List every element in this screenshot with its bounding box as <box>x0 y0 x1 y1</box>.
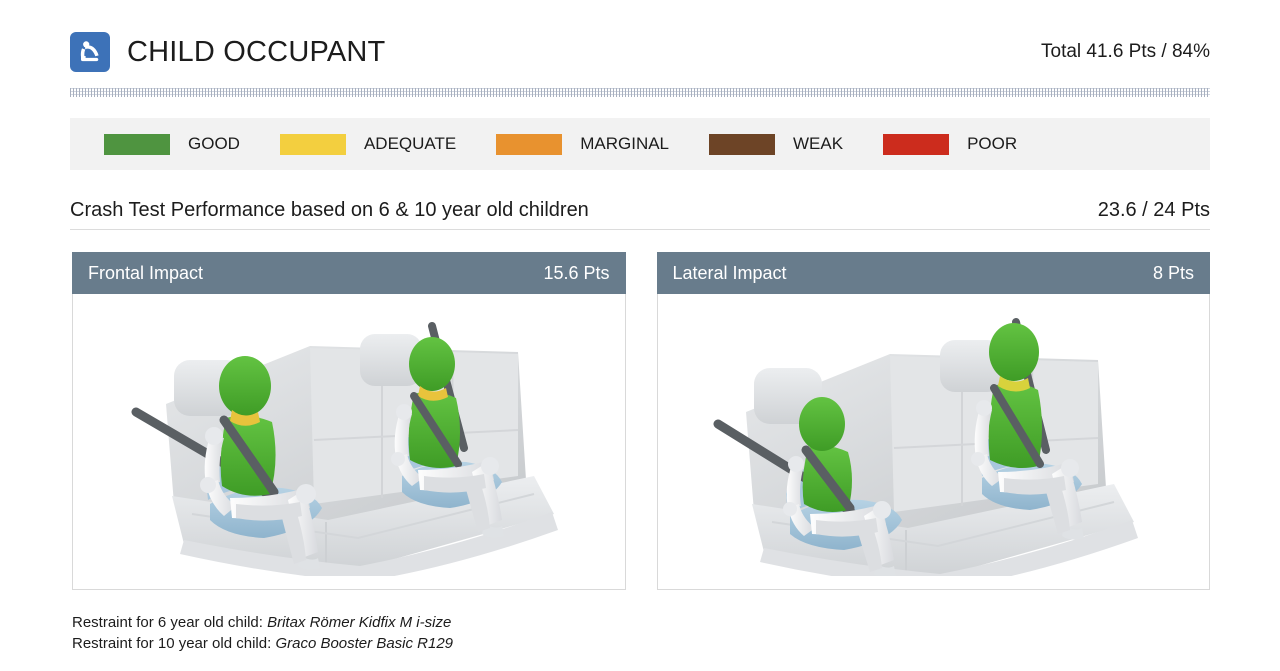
legend-item-good: GOOD <box>104 134 280 155</box>
legend-swatch-adequate <box>280 134 346 155</box>
legend-swatch-marginal <box>496 134 562 155</box>
restraint-note-10yo-prefix: Restraint for 10 year old child: <box>72 635 275 652</box>
dotted-divider <box>70 88 1210 97</box>
legend-item-weak: WEAK <box>709 134 883 155</box>
lateral-impact-card-header: Lateral Impact 8 Pts <box>657 252 1211 294</box>
frontal-impact-title: Frontal Impact <box>88 263 203 284</box>
impact-cards: Frontal Impact 15.6 Pts <box>72 252 1210 590</box>
frontal-impact-crash-figure <box>73 294 625 589</box>
legend-swatch-weak <box>709 134 775 155</box>
page-title: CHILD OCCUPANT <box>127 38 385 67</box>
lateral-impact-score: 8 Pts <box>1153 263 1194 284</box>
restraint-note-10yo-value: Graco Booster Basic R129 <box>275 635 453 652</box>
frontal-impact-score: 15.6 Pts <box>543 263 609 284</box>
legend-item-poor: POOR <box>883 134 1057 155</box>
restraint-note-10yo: Restraint for 10 year old child: Graco B… <box>72 633 972 654</box>
crash-test-section-header: Crash Test Performance based on 6 & 10 y… <box>70 192 1210 230</box>
restraint-note-6yo: Restraint for 6 year old child: Britax R… <box>72 612 972 633</box>
panel-header-left: CHILD OCCUPANT <box>70 32 385 72</box>
total-score: Total 41.6 Pts / 84% <box>1041 41 1210 63</box>
legend-swatch-good <box>104 134 170 155</box>
legend-label-good: GOOD <box>188 134 240 154</box>
legend-label-marginal: MARGINAL <box>580 134 669 154</box>
panel-header: CHILD OCCUPANT Total 41.6 Pts / 84% <box>70 26 1210 78</box>
legend-label-adequate: ADEQUATE <box>364 134 456 154</box>
lateral-impact-crash-figure <box>658 294 1210 589</box>
legend-item-marginal: MARGINAL <box>496 134 709 155</box>
lateral-impact-card-body <box>657 294 1211 590</box>
child-occupant-panel: CHILD OCCUPANT Total 41.6 Pts / 84% GOOD… <box>0 0 1280 671</box>
frontal-impact-card: Frontal Impact 15.6 Pts <box>72 252 626 590</box>
restraint-notes: Restraint for 6 year old child: Britax R… <box>72 612 972 654</box>
lateral-impact-card: Lateral Impact 8 Pts <box>657 252 1211 590</box>
legend-swatch-poor <box>883 134 949 155</box>
frontal-impact-card-header: Frontal Impact 15.6 Pts <box>72 252 626 294</box>
legend-label-poor: POOR <box>967 134 1017 154</box>
restraint-note-6yo-prefix: Restraint for 6 year old child: <box>72 614 267 631</box>
frontal-impact-card-body <box>72 294 626 590</box>
lateral-impact-title: Lateral Impact <box>673 263 787 284</box>
rating-legend: GOOD ADEQUATE MARGINAL WEAK POOR <box>70 118 1210 170</box>
restraint-note-6yo-value: Britax Römer Kidfix M i-size <box>267 614 451 631</box>
legend-item-adequate: ADEQUATE <box>280 134 496 155</box>
legend-label-weak: WEAK <box>793 134 843 154</box>
section-title: Crash Test Performance based on 6 & 10 y… <box>70 199 589 222</box>
child-seat-icon <box>70 32 110 72</box>
section-score: 23.6 / 24 Pts <box>1098 199 1210 222</box>
